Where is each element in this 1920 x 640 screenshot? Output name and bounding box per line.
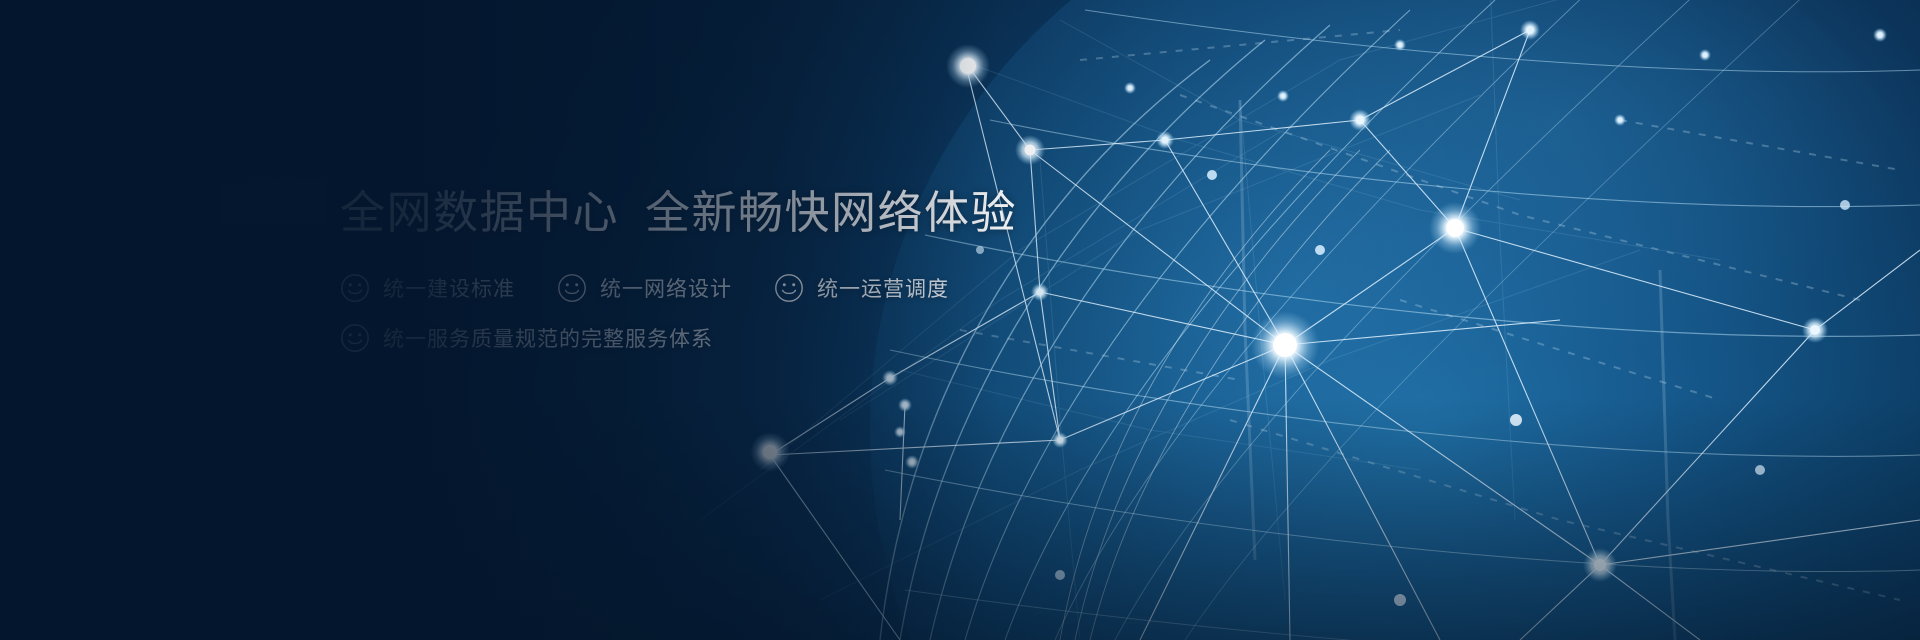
background-vignette <box>0 0 1920 640</box>
hero-banner: 全网数据中心全新畅快网络体验 统一建设标准 统一网络设计 <box>0 0 1920 640</box>
